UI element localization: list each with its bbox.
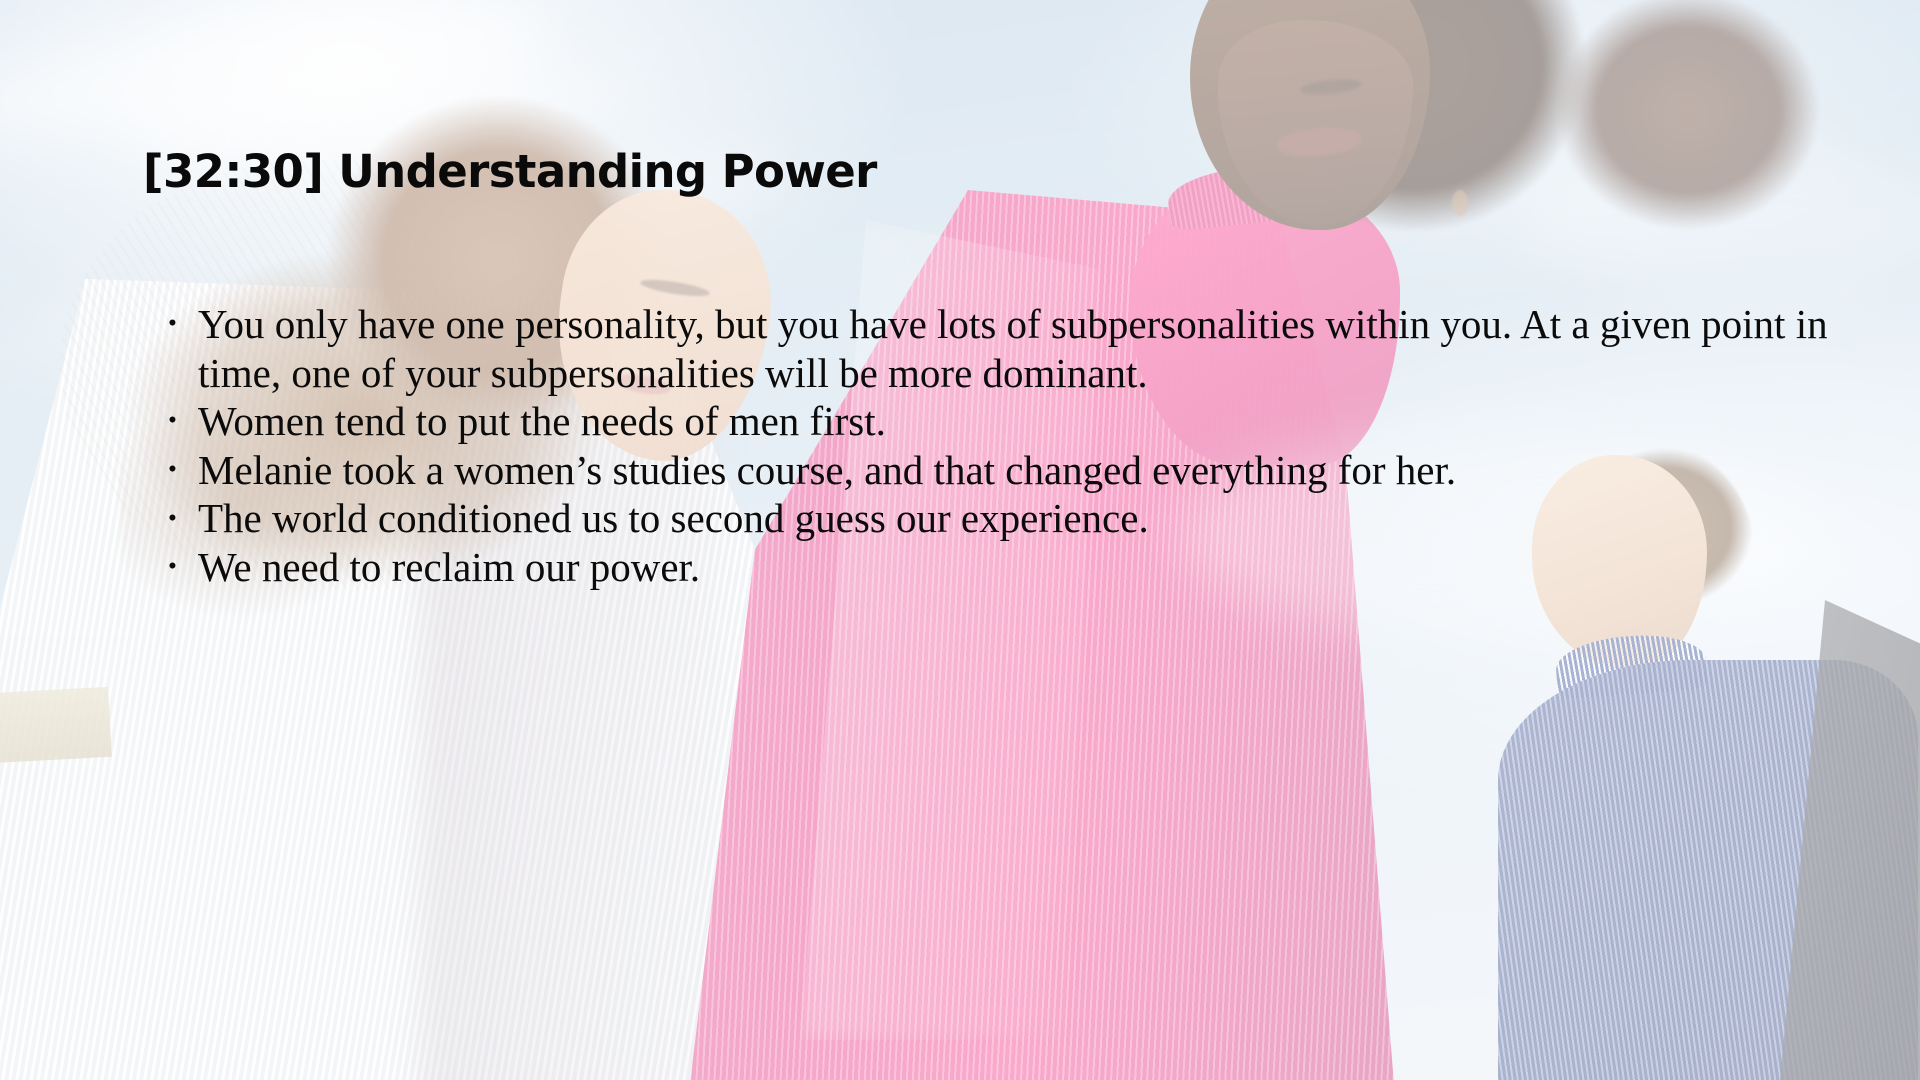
list-item: Melanie took a women’s studies course, a…	[198, 446, 1878, 495]
list-item: The world conditioned us to second guess…	[198, 494, 1878, 543]
presentation-slide: [32:30] Understanding Power You only hav…	[0, 0, 1920, 1080]
slide-content: [32:30] Understanding Power You only hav…	[0, 0, 1920, 1080]
slide-title: [32:30] Understanding Power	[143, 148, 877, 197]
list-item: Women tend to put the needs of men first…	[198, 397, 1878, 446]
list-item: We need to reclaim our power.	[198, 543, 1878, 592]
list-item: You only have one personality, but you h…	[198, 300, 1878, 397]
bullet-list: You only have one personality, but you h…	[150, 300, 1878, 591]
